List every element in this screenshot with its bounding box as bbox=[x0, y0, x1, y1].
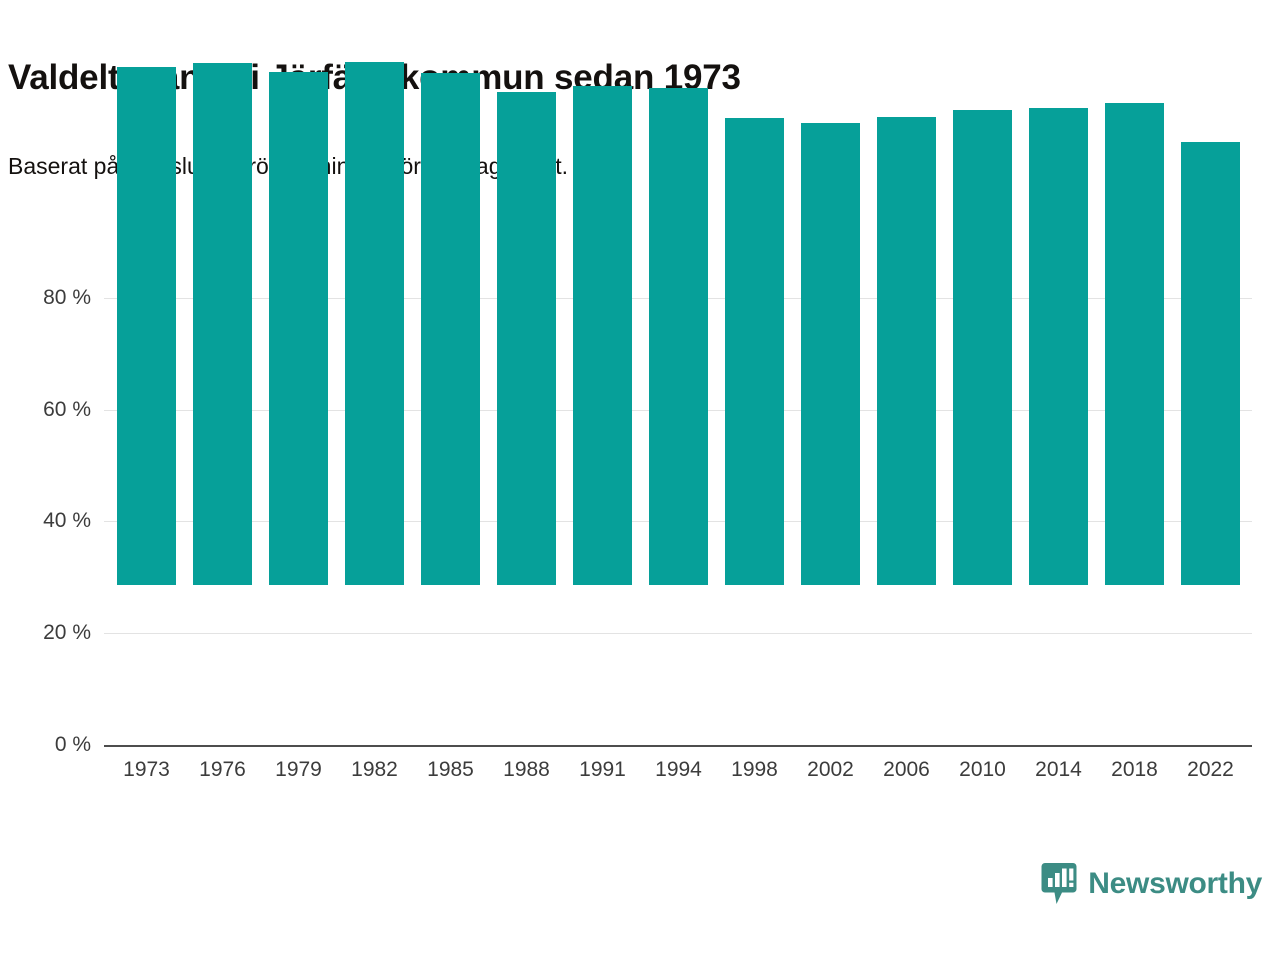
x-axis-line bbox=[104, 745, 1252, 747]
bar[interactable] bbox=[877, 117, 936, 585]
x-tick-label: 1994 bbox=[641, 758, 717, 782]
y-tick-label: 20 % bbox=[43, 621, 91, 645]
logo-wordmark: Newsworthy bbox=[1088, 869, 1262, 899]
bar-chart-plot-area: 0 %20 %40 %60 %80 % 19731976197919821985… bbox=[0, 0, 1280, 800]
newsworthy-logo: Newsworthy bbox=[1041, 862, 1262, 906]
x-tick-label: 1982 bbox=[337, 758, 413, 782]
bar[interactable] bbox=[117, 67, 176, 585]
bar[interactable] bbox=[1029, 108, 1088, 585]
x-tick-label: 1979 bbox=[261, 758, 337, 782]
x-tick-label: 2018 bbox=[1097, 758, 1173, 782]
y-tick-label: 80 % bbox=[43, 286, 91, 310]
chart-page: Valdeltagande i Järfälla kommun sedan 19… bbox=[0, 0, 1280, 960]
x-tick-label: 1973 bbox=[109, 758, 185, 782]
x-tick-label: 2014 bbox=[1021, 758, 1097, 782]
bar[interactable] bbox=[421, 73, 480, 585]
bar-series bbox=[117, 65, 1257, 585]
x-tick-label: 2006 bbox=[869, 758, 945, 782]
bar[interactable] bbox=[649, 88, 708, 585]
x-tick-label: 1988 bbox=[489, 758, 565, 782]
speech-bubble-bar-chart-icon bbox=[1041, 862, 1077, 906]
bar[interactable] bbox=[497, 92, 556, 585]
bar[interactable] bbox=[725, 118, 784, 585]
x-tick-label: 1976 bbox=[185, 758, 261, 782]
bar[interactable] bbox=[269, 72, 328, 585]
x-tick-label: 1985 bbox=[413, 758, 489, 782]
bar[interactable] bbox=[345, 62, 404, 585]
bar[interactable] bbox=[801, 123, 860, 585]
bar[interactable] bbox=[193, 63, 252, 585]
y-tick-label: 0 % bbox=[55, 733, 91, 757]
y-tick-label: 40 % bbox=[43, 509, 91, 533]
bar[interactable] bbox=[1181, 142, 1240, 585]
gridline-20 bbox=[104, 633, 1252, 634]
x-tick-label: 1991 bbox=[565, 758, 641, 782]
bar[interactable] bbox=[1105, 103, 1164, 585]
bar[interactable] bbox=[953, 110, 1012, 585]
x-tick-label: 1998 bbox=[717, 758, 793, 782]
x-tick-label: 2002 bbox=[793, 758, 869, 782]
x-tick-label: 2022 bbox=[1173, 758, 1249, 782]
x-tick-label: 2010 bbox=[945, 758, 1021, 782]
y-tick-label: 60 % bbox=[43, 398, 91, 422]
bar[interactable] bbox=[573, 86, 632, 585]
